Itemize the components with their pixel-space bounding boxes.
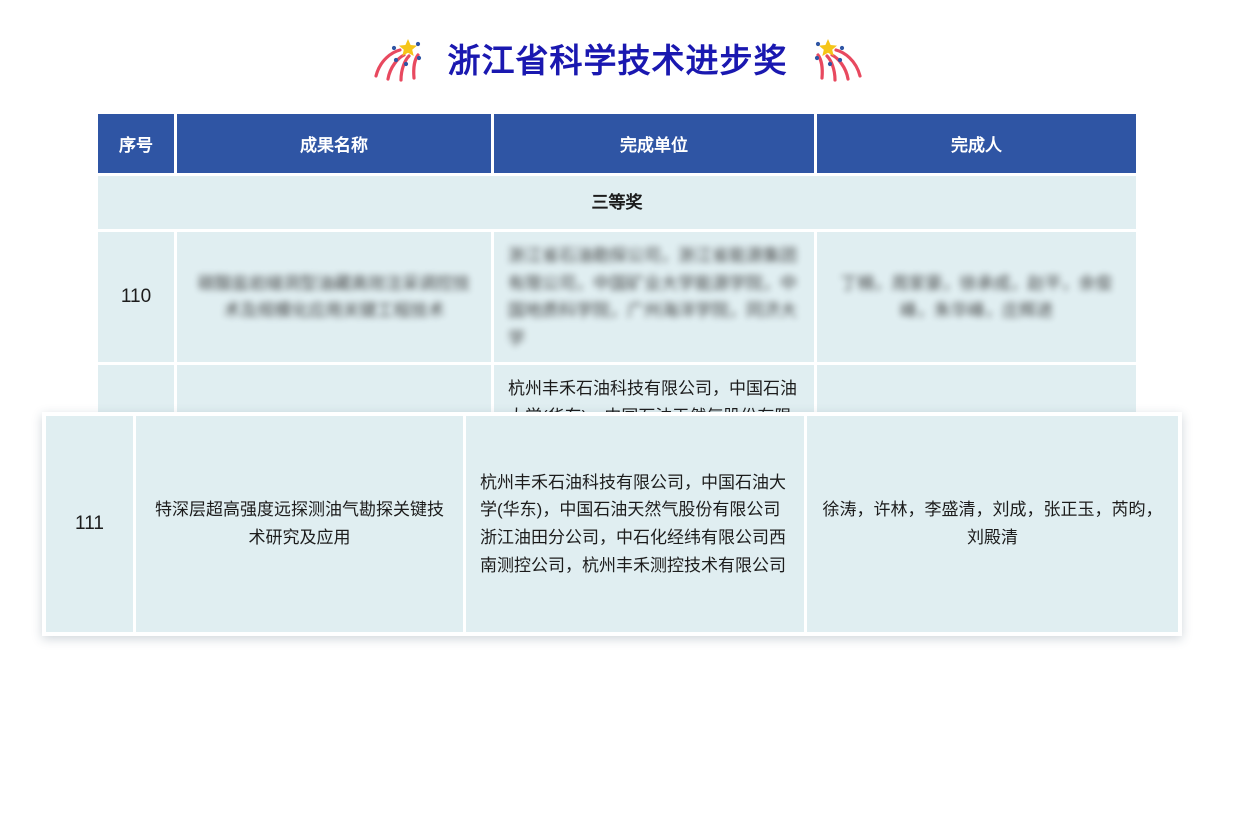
achievement-name: 碳酸盐岩缝洞型油藏高效注采调控技术及规模化应用关键工程技术 xyxy=(177,232,494,365)
redacted-text: 丁楠，周家豪，徐承成，赵平，余俊峰，朱华峰，庄辉进 xyxy=(841,274,1113,321)
firework-icon xyxy=(372,36,434,84)
table-header: 序号 成果名称 完成单位 完成人 xyxy=(98,114,1136,176)
redacted-text: 碳酸盐岩缝洞型油藏高效注采调控技术及规模化应用关键工程技术 xyxy=(198,274,470,321)
redacted-text: 浙江省石油勘探公司，浙江省能源集团有限公司，中国矿业大学能源学院，中国地质科学院… xyxy=(508,246,797,348)
column-header-people: 完成人 xyxy=(817,114,1136,176)
page-title-bar: 浙江省科学技术进步奖 xyxy=(0,30,1235,90)
award-group-row: 三等奖 xyxy=(98,176,1136,232)
firework-icon xyxy=(802,36,864,84)
row-number: 111 xyxy=(46,416,136,632)
highlighted-table-row[interactable]: 111 特深层超高强度远探测油气勘探关键技术研究及应用 杭州丰禾石油科技有限公司… xyxy=(42,412,1182,636)
page-title: 浙江省科学技术进步奖 xyxy=(448,44,788,77)
table-row[interactable]: 110 碳酸盐岩缝洞型油藏高效注采调控技术及规模化应用关键工程技术 浙江省石油勘… xyxy=(98,232,1136,365)
column-header-name: 成果名称 xyxy=(177,114,494,176)
table-header-row: 序号 成果名称 完成单位 完成人 xyxy=(98,114,1136,176)
row-number: 110 xyxy=(98,232,177,365)
column-header-unit: 完成单位 xyxy=(494,114,817,176)
achievement-name: 特深层超高强度远探测油气勘探关键技术研究及应用 xyxy=(136,416,466,632)
completing-people: 徐涛，许林，李盛清，刘成，张正玉，芮昀，刘殿清 xyxy=(807,416,1178,632)
completing-people: 丁楠，周家豪，徐承成，赵平，余俊峰，朱华峰，庄辉进 xyxy=(817,232,1136,365)
completing-unit: 杭州丰禾石油科技有限公司，中国石油大学(华东)，中国石油天然气股份有限公司浙江油… xyxy=(466,416,807,632)
award-group-label: 三等奖 xyxy=(98,176,1136,232)
column-header-no: 序号 xyxy=(98,114,177,176)
completing-unit: 浙江省石油勘探公司，浙江省能源集团有限公司，中国矿业大学能源学院，中国地质科学院… xyxy=(494,232,817,365)
